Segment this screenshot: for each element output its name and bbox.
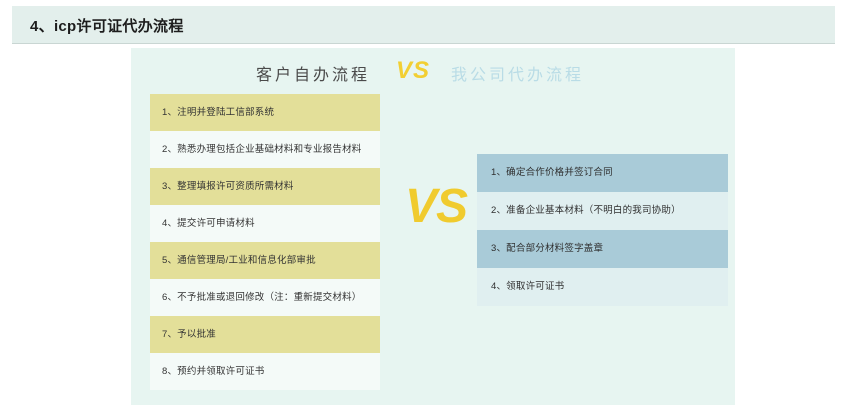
left-process-step-label: 2、熟悉办理包括企业基础材料和专业报告材料 xyxy=(162,131,361,168)
right-process-step: 1、确定合作价格并签订合同 xyxy=(477,154,728,192)
left-process-step: 5、通信管理局/工业和信息化部审批 xyxy=(150,242,380,279)
left-process-step: 4、提交许可申请材料 xyxy=(150,205,380,242)
left-process-step-label: 5、通信管理局/工业和信息化部审批 xyxy=(162,242,316,279)
right-process-step-label: 4、领取许可证书 xyxy=(491,268,564,306)
left-process-step-label: 4、提交许可申请材料 xyxy=(162,205,255,242)
left-process-step-label: 3、整理填报许可资质所需材料 xyxy=(162,168,294,205)
center-vs-label: VS xyxy=(396,183,476,231)
header-label-customer-self-service: 客户自办流程 xyxy=(256,61,370,85)
left-process-step: 1、注明并登陆工信部系统 xyxy=(150,94,380,131)
right-process-step: 3、配合部分材料签字盖章 xyxy=(477,230,728,268)
left-process-step: 3、整理填报许可资质所需材料 xyxy=(150,168,380,205)
left-process-step: 2、熟悉办理包括企业基础材料和专业报告材料 xyxy=(150,131,380,168)
page-title: 4、icp许可证代办流程 xyxy=(30,15,184,36)
left-process-step-label: 6、不予批准或退回修改（注：重新提交材料） xyxy=(162,279,361,316)
left-process-step-label: 8、预约并领取许可证书 xyxy=(162,353,264,390)
left-process-step: 6、不予批准或退回修改（注：重新提交材料） xyxy=(150,279,380,316)
header-vs-label: VS xyxy=(396,57,430,85)
left-process-step: 8、预约并领取许可证书 xyxy=(150,353,380,390)
header-label-our-agency-service: 我公司代办流程 xyxy=(451,61,584,85)
left-process-step-label: 1、注明并登陆工信部系统 xyxy=(162,94,274,131)
page-root: 4、icp许可证代办流程 客户自办流程 VS 我公司代办流程 1、注明并登陆工信… xyxy=(0,0,843,418)
right-process-column: 1、确定合作价格并签订合同 2、准备企业基本材料（不明白的我司协助） 3、配合部… xyxy=(477,154,728,306)
section-title-band: 4、icp许可证代办流程 xyxy=(12,6,835,44)
right-process-step: 4、领取许可证书 xyxy=(477,268,728,306)
right-process-step: 2、准备企业基本材料（不明白的我司协助） xyxy=(477,192,728,230)
left-process-step-label: 7、予以批准 xyxy=(162,316,216,353)
infographic-header: 客户自办流程 VS 我公司代办流程 xyxy=(131,57,735,91)
left-process-column: 1、注明并登陆工信部系统 2、熟悉办理包括企业基础材料和专业报告材料 3、整理填… xyxy=(150,94,380,390)
right-process-step-label: 1、确定合作价格并签订合同 xyxy=(491,154,613,192)
right-process-step-label: 3、配合部分材料签字盖章 xyxy=(491,230,603,268)
right-process-step-label: 2、准备企业基本材料（不明白的我司协助） xyxy=(491,192,681,230)
left-process-step: 7、予以批准 xyxy=(150,316,380,353)
process-comparison-infographic: 客户自办流程 VS 我公司代办流程 1、注明并登陆工信部系统 2、熟悉办理包括企… xyxy=(131,48,735,405)
